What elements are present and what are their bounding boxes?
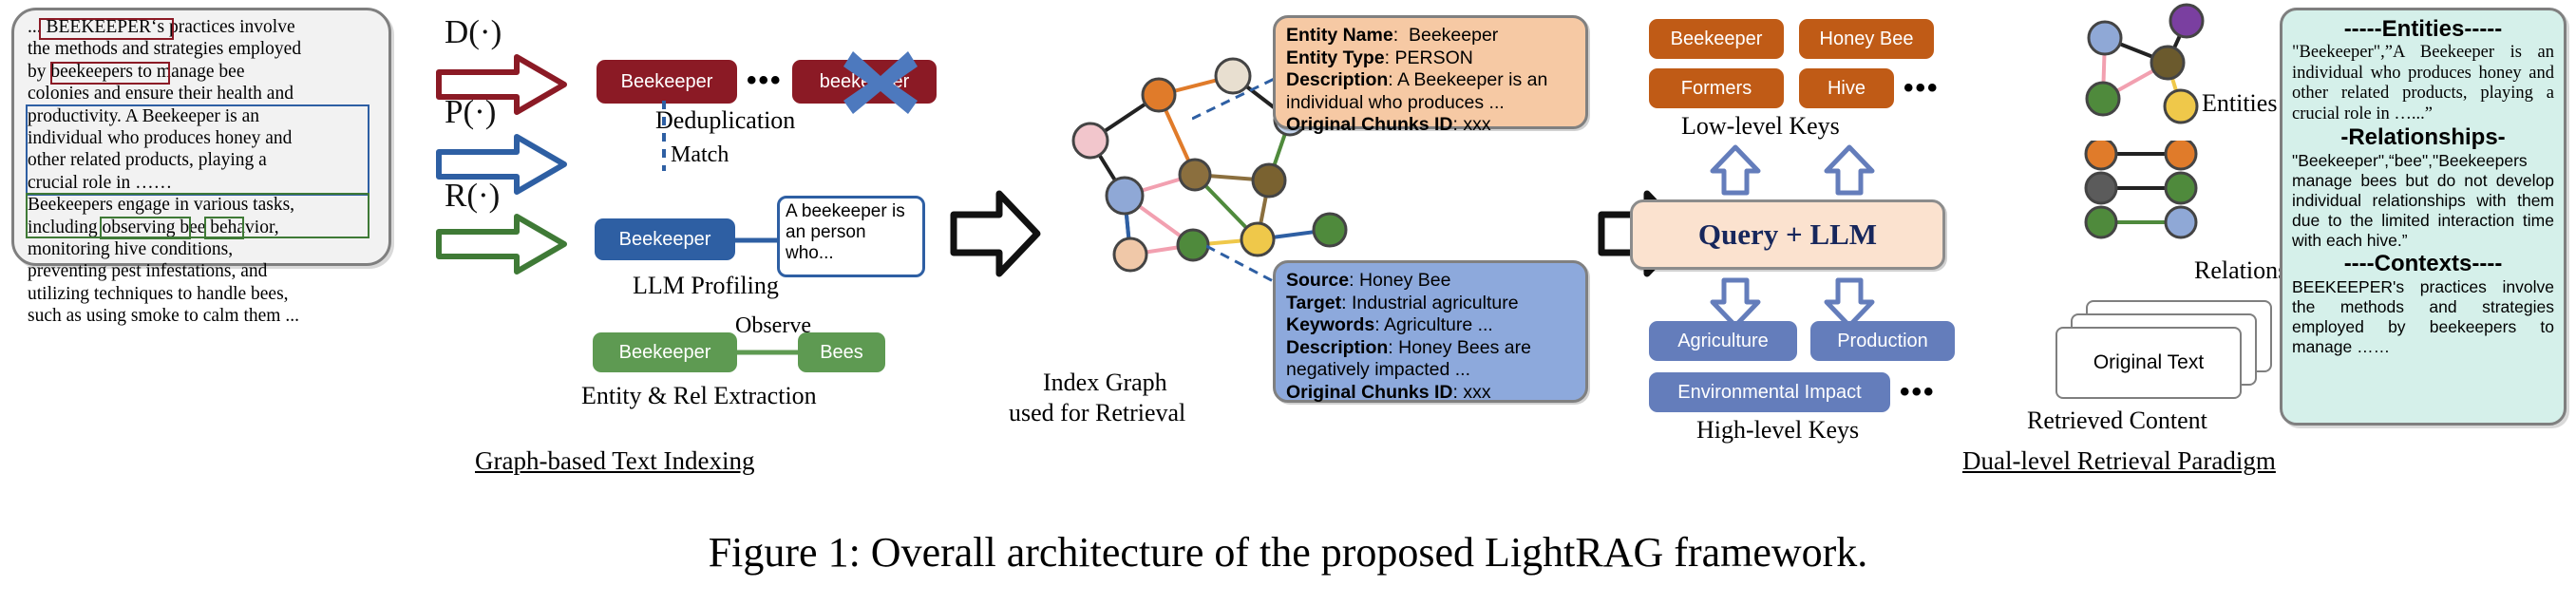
relation-row: Keywords: Agriculture ...: [1286, 314, 1575, 337]
source-document-panel: ... BEEKEEPER‘s practices involve the me…: [11, 8, 391, 266]
relation-row-label: Original Chunks ID: [1286, 382, 1453, 403]
doc-line: preventing pest infestations, and: [28, 260, 381, 282]
dedup-node-keep: Beekeeper: [597, 60, 737, 104]
dedup-arrow-icon: [435, 53, 568, 116]
doc-line: monitoring hive conditions,: [28, 238, 381, 260]
doc-line: such as using smoke to calm them ...: [28, 305, 381, 327]
extraction-target-node: Bees: [798, 332, 885, 372]
doc-line: the methods and strategies employed: [28, 38, 381, 60]
low-level-keys-caption: Low-level Keys: [1681, 112, 1840, 141]
entity-row: Entity Type: PERSON: [1286, 47, 1575, 70]
original-text-label: Original Text: [2093, 351, 2204, 374]
answer-section-body: "Beekeeper",”A Beekeeper is an individua…: [2292, 43, 2554, 124]
indexing-section-title: Graph-based Text Indexing: [475, 446, 755, 476]
graph-caption-line1: Index Graph: [1043, 369, 1167, 397]
highlight-profile-phrase: [26, 104, 369, 196]
relation-row-label: Keywords: [1286, 314, 1374, 335]
doc-line: colonies and ensure their health and: [28, 83, 381, 104]
relations-mini-graph: [2042, 141, 2251, 255]
answer-section-heading: -Relationships-: [2292, 124, 2554, 151]
query-llm-label: Query + LLM: [1698, 218, 1877, 252]
profiling-callout-text: A beekeeper is an person who...: [786, 201, 905, 263]
relation-row-label: Source: [1286, 270, 1349, 291]
relations-label: Relations: [2194, 256, 2287, 285]
relation-row-value: Honey Bee: [1359, 270, 1450, 291]
figure-caption: Figure 1: Overall architecture of the pr…: [0, 528, 2576, 577]
relation-row: Target: Industrial agriculture: [1286, 293, 1575, 315]
entity-detail-card: Entity Name: Beekeeper Entity Type: PERS…: [1273, 15, 1588, 129]
relation-row: Source: Honey Bee: [1286, 270, 1575, 293]
entity-row-label: Entity Name: [1286, 25, 1393, 46]
low-level-up-arrow-icon: [1824, 144, 1875, 196]
graph-caption-line2: used for Retrieval: [1009, 399, 1185, 427]
query-llm-box[interactable]: Query + LLM: [1630, 199, 1945, 270]
match-dashed-line: [659, 101, 669, 171]
relation-row-label: Target: [1286, 293, 1341, 313]
entity-row-label: Description: [1286, 69, 1388, 90]
low-level-keys-ellipsis: •••: [1904, 72, 1940, 104]
high-level-key: Agriculture: [1649, 321, 1797, 361]
extraction-edge: [737, 348, 798, 357]
match-label: Match: [671, 142, 729, 168]
entity-row: Entity Name: Beekeeper: [1286, 25, 1575, 47]
low-level-key: Beekeeper: [1649, 19, 1784, 59]
highlight-relation-block: [26, 193, 369, 238]
dedup-caption: Deduplication: [655, 106, 795, 135]
relation-row-label: Description: [1286, 337, 1388, 358]
entity-row: Description: A Beekeeper is an individua…: [1286, 69, 1575, 114]
entity-row: Original Chunks ID: xxx: [1286, 114, 1575, 137]
profiling-callout: A beekeeper is an person who...: [777, 196, 925, 277]
answer-section-body: BEEKEEPER's practices involve the method…: [2292, 277, 2554, 357]
highlight-entity-lower: [50, 62, 170, 85]
profile-arrow-icon: [435, 133, 568, 196]
x-cross-icon: [840, 46, 921, 118]
highlight-relation-verb: [100, 217, 191, 239]
low-level-key: Hive: [1799, 68, 1894, 108]
extraction-source-node: Beekeeper: [593, 332, 737, 372]
retrieved-content-caption: Retrieved Content: [2027, 407, 2207, 435]
retrieved-stack-card-front: Original Text: [2055, 327, 2242, 399]
entity-row-value: Beekeeper: [1409, 25, 1498, 46]
extraction-caption: Entity & Rel Extraction: [581, 382, 817, 410]
generation-output-panel: -----Entities----- "Beekeeper",”A Beekee…: [2280, 8, 2567, 426]
operator-dedup-label: D(·): [445, 13, 502, 51]
highlight-relation-object: [204, 217, 244, 239]
figure-canvas: ... BEEKEEPER‘s practices involve the me…: [0, 0, 2576, 532]
extract-arrow-icon: [435, 213, 568, 275]
relation-row: Description: Honey Bees are negatively i…: [1286, 337, 1575, 382]
high-level-key: Production: [1810, 321, 1955, 361]
answer-section-heading: -----Entities-----: [2292, 16, 2554, 43]
profiling-connector: [733, 236, 781, 245]
entities-label: Entities: [2202, 89, 2277, 118]
relation-row: Original Chunks ID: xxx: [1286, 382, 1575, 405]
relation-row-value: Industrial agriculture: [1352, 293, 1519, 313]
relation-row-value: Agriculture ...: [1384, 314, 1493, 335]
highlight-entity-upper: [39, 18, 174, 40]
relation-row-value: xxx: [1463, 382, 1490, 403]
high-level-keys-caption: High-level Keys: [1696, 416, 1859, 445]
doc-line: utilizing techniques to handle bees,: [28, 283, 381, 305]
low-level-key: Formers: [1649, 68, 1784, 108]
entity-row-label: Original Chunks ID: [1286, 114, 1453, 135]
relation-detail-card: Source: Honey Bee Target: Industrial agr…: [1273, 260, 1588, 403]
entity-row-value: PERSON: [1395, 47, 1473, 68]
dedup-ellipsis: •••: [747, 65, 783, 97]
high-level-key: Environmental Impact: [1649, 372, 1890, 412]
high-level-keys-ellipsis: •••: [1900, 376, 1936, 408]
retrieval-section-title: Dual-level Retrieval Paradigm: [1962, 446, 2276, 476]
answer-section-body: "Beekeeper",“bee","Beekeepers manage bee…: [2292, 151, 2554, 251]
answer-section-heading: ----Contexts----: [2292, 251, 2554, 277]
entity-row-value: xxx: [1463, 114, 1490, 135]
low-level-key: Honey Bee: [1799, 19, 1934, 59]
low-level-up-arrow-icon: [1710, 144, 1761, 196]
profiling-caption: LLM Profiling: [633, 272, 779, 300]
entity-row-label: Entity Type: [1286, 47, 1385, 68]
profiling-node: Beekeeper: [595, 218, 735, 260]
